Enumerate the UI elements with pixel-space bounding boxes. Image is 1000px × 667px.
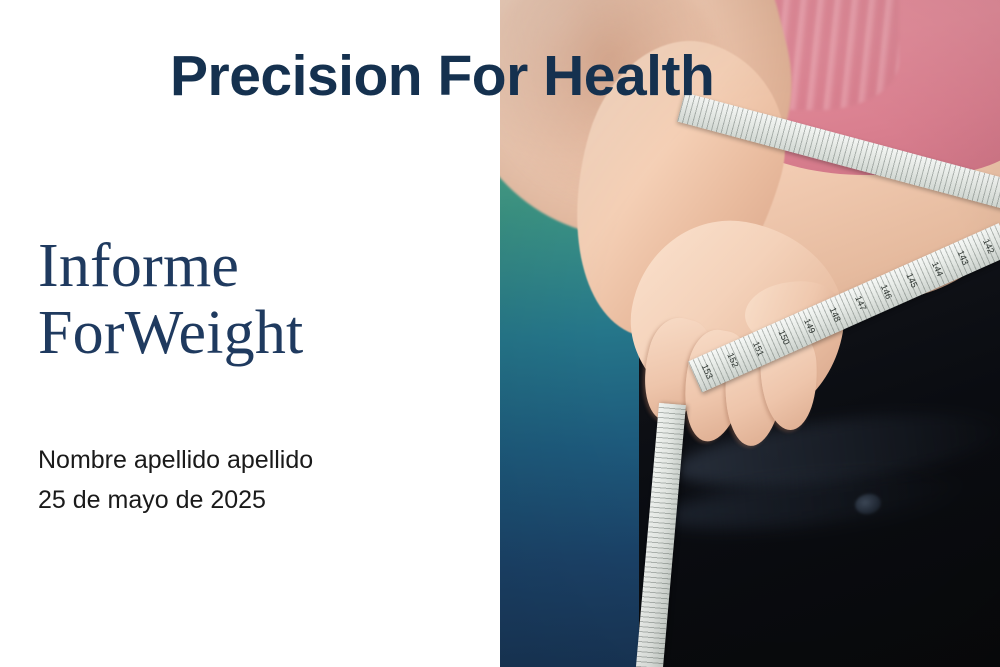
tape-number: 148 xyxy=(828,306,843,324)
report-date: 25 de mayo de 2025 xyxy=(38,480,313,520)
tape-number: 147 xyxy=(853,294,868,312)
tape-number: 143 xyxy=(956,249,971,267)
tape-number: 152 xyxy=(725,351,740,369)
page-title-line-1: Informe xyxy=(38,233,468,300)
page-title: Informe ForWeight xyxy=(38,233,468,367)
tape-number: 150 xyxy=(777,328,792,346)
report-cover-page: 153 152 151 150 149 148 147 146 145 144 … xyxy=(0,0,1000,667)
brand-title: Precision For Health xyxy=(170,48,714,105)
page-title-line-2: ForWeight xyxy=(38,300,468,367)
tape-number: 153 xyxy=(700,363,715,381)
tape-number: 151 xyxy=(751,340,766,358)
patient-name: Nombre apellido apellido xyxy=(38,440,313,480)
tape-number: 146 xyxy=(879,283,894,301)
tape-number: 144 xyxy=(930,260,945,278)
report-meta: Nombre apellido apellido 25 de mayo de 2… xyxy=(38,440,313,520)
tape-number: 145 xyxy=(905,271,920,289)
tape-number: 149 xyxy=(802,317,817,335)
tape-number: 142 xyxy=(981,237,996,255)
